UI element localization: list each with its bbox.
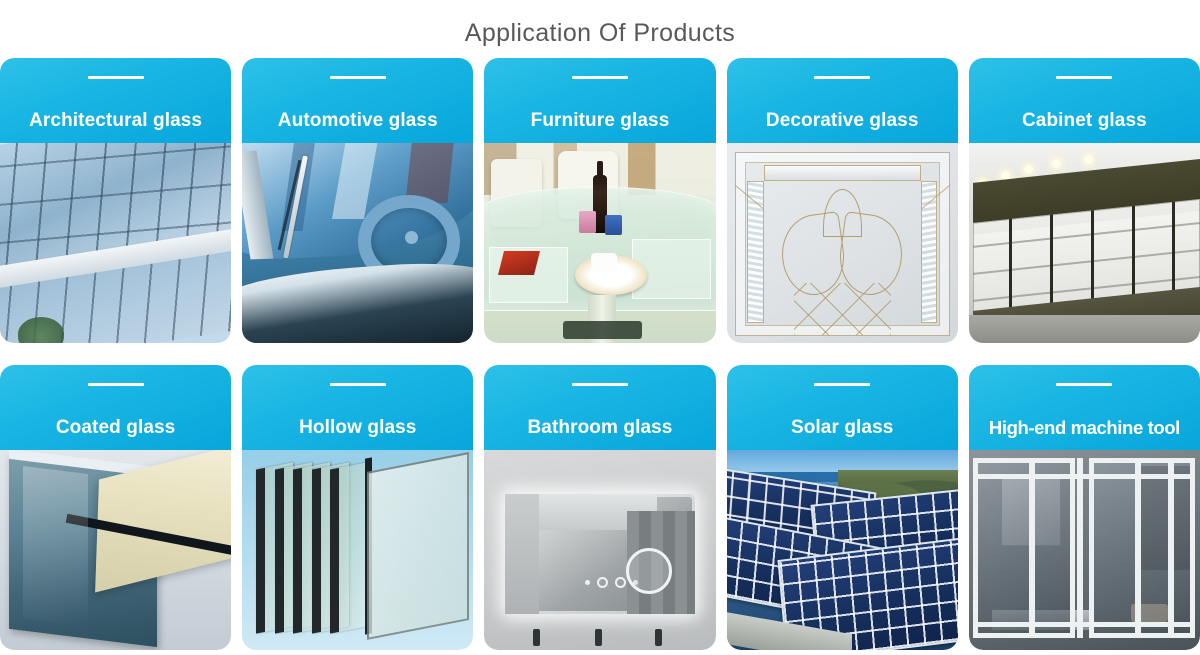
header-divider-rule xyxy=(1056,383,1112,386)
card-title: Decorative glass xyxy=(762,109,923,133)
header-divider-rule xyxy=(572,383,628,386)
card-header: Hollow glass xyxy=(242,365,473,450)
photo-illustration xyxy=(242,143,473,343)
solar-glass-photo[interactable] xyxy=(727,450,958,650)
card-title: High-end machine tool xyxy=(985,416,1184,440)
photo-illustration xyxy=(484,143,715,343)
card-header: High-end machine tool xyxy=(969,365,1200,450)
photo-illustration xyxy=(969,450,1200,650)
cabinet-glass-photo[interactable] xyxy=(969,143,1200,343)
header-divider-rule xyxy=(330,383,386,386)
photo-illustration xyxy=(727,450,958,650)
card-title: Coated glass xyxy=(52,416,179,440)
architectural-glass-photo[interactable] xyxy=(0,143,231,343)
photo-illustration xyxy=(242,450,473,650)
photo-illustration xyxy=(0,143,231,343)
card-header: Furniture glass xyxy=(484,58,715,143)
automotive-glass-photo[interactable] xyxy=(242,143,473,343)
product-card-furniture-glass[interactable]: Furniture glass xyxy=(484,58,715,343)
card-title: Hollow glass xyxy=(295,416,420,440)
product-card-decorative-glass[interactable]: Decorative glass xyxy=(727,58,958,343)
machine-tool-glass-photo[interactable] xyxy=(969,450,1200,650)
card-header: Cabinet glass xyxy=(969,58,1200,143)
card-title: Cabinet glass xyxy=(1018,109,1151,133)
card-title: Furniture glass xyxy=(527,109,674,133)
card-title: Bathroom glass xyxy=(523,416,676,440)
card-header: Automotive glass xyxy=(242,58,473,143)
card-header: Coated glass xyxy=(0,365,231,450)
page-title: Application Of Products xyxy=(0,0,1200,58)
product-card-architectural-glass[interactable]: Architectural glass xyxy=(0,58,231,343)
card-header: Decorative glass xyxy=(727,58,958,143)
header-divider-rule xyxy=(88,383,144,386)
application-of-products-page: Application Of Products Architectural gl… xyxy=(0,0,1200,655)
header-divider-rule xyxy=(814,383,870,386)
decorative-glass-photo[interactable] xyxy=(727,143,958,343)
coated-glass-photo[interactable] xyxy=(0,450,231,650)
header-divider-rule xyxy=(1056,76,1112,79)
photo-illustration xyxy=(727,143,958,343)
furniture-glass-photo[interactable] xyxy=(484,143,715,343)
product-card-solar-glass[interactable]: Solar glass xyxy=(727,365,958,650)
photo-illustration xyxy=(484,450,715,650)
product-application-grid: Architectural glass Automotive glass xyxy=(0,58,1200,650)
product-card-cabinet-glass[interactable]: Cabinet glass xyxy=(969,58,1200,343)
product-card-coated-glass[interactable]: Coated glass xyxy=(0,365,231,650)
header-divider-rule xyxy=(572,76,628,79)
card-title: Solar glass xyxy=(787,416,897,440)
product-card-high-end-machine-tool[interactable]: High-end machine tool xyxy=(969,365,1200,650)
card-header: Solar glass xyxy=(727,365,958,450)
card-header: Architectural glass xyxy=(0,58,231,143)
photo-illustration xyxy=(0,450,231,650)
card-title: Architectural glass xyxy=(25,109,206,133)
product-card-bathroom-glass[interactable]: Bathroom glass xyxy=(484,365,715,650)
header-divider-rule xyxy=(330,76,386,79)
header-divider-rule xyxy=(814,76,870,79)
header-divider-rule xyxy=(88,76,144,79)
hollow-glass-photo[interactable] xyxy=(242,450,473,650)
card-header: Bathroom glass xyxy=(484,365,715,450)
product-card-hollow-glass[interactable]: Hollow glass xyxy=(242,365,473,650)
card-title: Automotive glass xyxy=(274,109,442,133)
photo-illustration xyxy=(969,143,1200,343)
product-card-automotive-glass[interactable]: Automotive glass xyxy=(242,58,473,343)
bathroom-glass-photo[interactable] xyxy=(484,450,715,650)
